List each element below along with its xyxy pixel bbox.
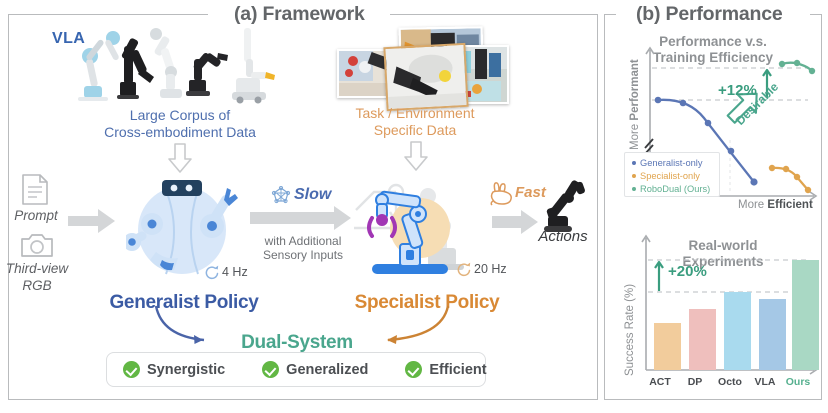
legend-label: Generalist-only <box>640 158 703 168</box>
badge-efficient: Efficient <box>405 361 486 378</box>
panel-a-top-rule-left <box>8 14 208 15</box>
arrow-down-generalist <box>164 142 196 179</box>
input-label-rgb-line1: Third-view <box>6 261 68 276</box>
panel-b-title: (b) Performance <box>629 3 790 26</box>
camera-icon <box>20 231 54 264</box>
input-label-prompt: Prompt <box>14 208 58 223</box>
cross-embodiment-robot-arms-image <box>76 26 284 104</box>
check-icon <box>123 361 140 378</box>
task-caption-line2: Specific Data <box>374 122 456 138</box>
bar-label-octo: Octo <box>716 376 744 388</box>
legend-label: RoboDual (Ours) <box>640 184 710 194</box>
document-icon <box>20 173 50 211</box>
badge-synergistic: Synergistic <box>123 361 225 378</box>
badge-label: Generalized <box>286 362 368 378</box>
bar-label-ours: Ours <box>784 376 812 388</box>
task-environment-photos <box>337 27 502 107</box>
panel-b-top-rule-left <box>604 14 616 15</box>
arrow-right-input-to-generalist <box>68 208 116 239</box>
bar-label-vla: VLA <box>751 376 779 388</box>
line-chart-gain-annotation: +12% <box>718 82 757 99</box>
badge-label: Efficient <box>429 362 486 378</box>
specialist-rate-label: 20 Hz <box>474 262 507 276</box>
corpus-caption-line2: Cross-embodiment Data <box>104 124 256 140</box>
corpus-caption-line1: Large Corpus of <box>130 107 230 123</box>
slow-sub-line2: Sensory Inputs <box>263 248 343 262</box>
legend-item: RoboDual (Ours) <box>629 182 715 195</box>
badge-label: Synergistic <box>147 362 225 378</box>
refresh-icon-generalist <box>204 265 220 285</box>
arrow-curve-specialist-to-dual <box>366 304 486 354</box>
bar-label-act: ACT <box>646 376 674 388</box>
line-chart-legend: Generalist-only Specialist-only RoboDual… <box>624 152 720 197</box>
arrow-right-slow <box>250 205 352 236</box>
panel-b-top-rule-right <box>810 14 822 15</box>
arrow-right-actions <box>492 210 538 239</box>
legend-label: Specialist-only <box>640 171 700 181</box>
panel-a-title: (a) Framework <box>227 3 372 26</box>
bar-chart-plot <box>632 230 822 390</box>
check-icon <box>262 361 279 378</box>
input-label-rgb-line2: RGB <box>22 278 51 293</box>
bar-label-dp: DP <box>681 376 709 388</box>
dual-system-title: Dual-System <box>241 332 353 354</box>
legend-dot-icon <box>632 187 636 191</box>
panel-a-top-rule-right <box>390 14 598 15</box>
legend-dot-icon <box>632 174 636 178</box>
dual-system-badges: Synergistic Generalized Efficient <box>106 352 486 387</box>
legend-item: Generalist-only <box>629 156 715 169</box>
photo-tabletop-4-highlight <box>383 43 468 111</box>
rabbit-icon <box>489 182 515 211</box>
figure-root: (a) Framework (b) Performance <box>0 0 828 413</box>
legend-item: Specialist-only <box>629 169 715 182</box>
check-icon <box>405 361 422 378</box>
bar-chart-gain-annotation: +20% <box>668 263 707 280</box>
slow-label: Slow <box>294 186 331 204</box>
vla-badge: VLA <box>52 30 85 48</box>
slow-sub-line1: with Additional <box>265 234 342 248</box>
actions-label: Actions <box>538 228 587 245</box>
generalist-rate-label: 4 Hz <box>222 265 248 279</box>
badge-generalized: Generalized <box>262 361 368 378</box>
task-caption-line1: Task / Environment <box>355 105 474 121</box>
refresh-icon-specialist <box>456 262 472 282</box>
legend-dot-icon <box>632 161 636 165</box>
